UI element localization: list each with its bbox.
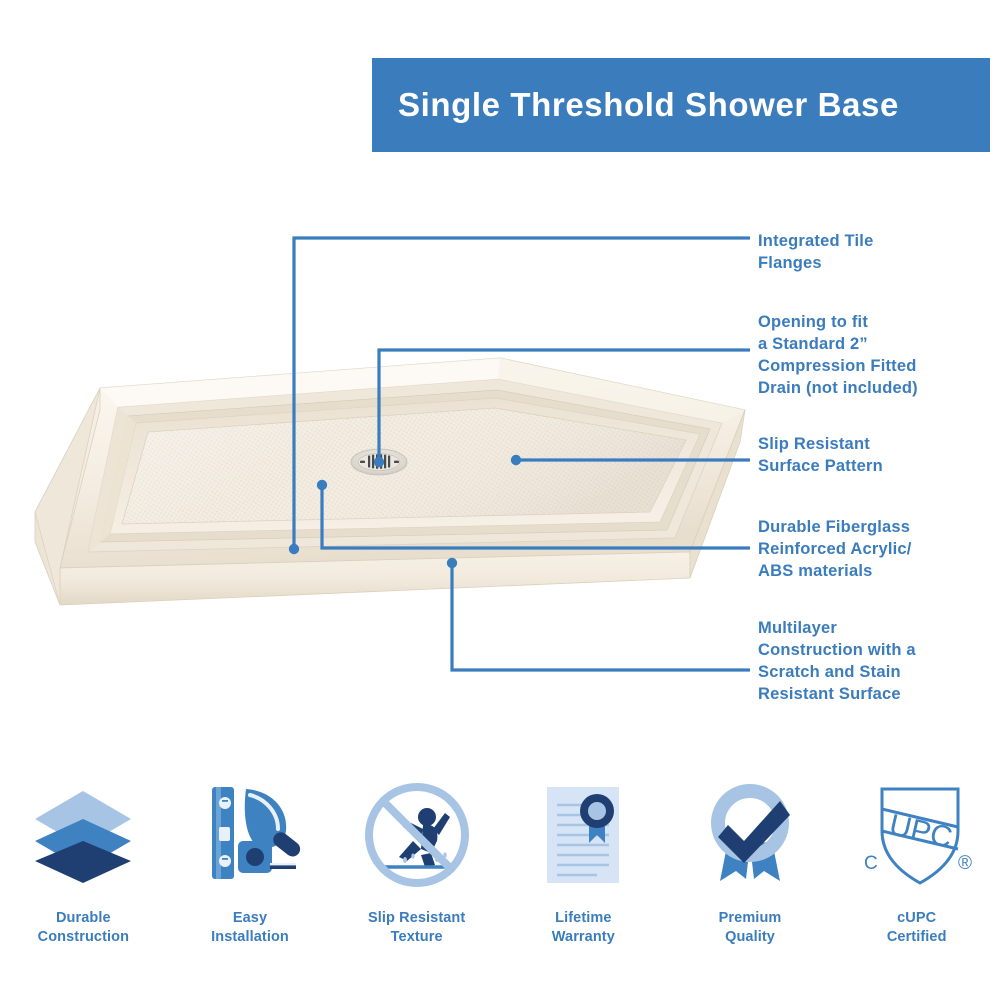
callout-line: Multilayer: [758, 618, 998, 640]
callout-line: Surface Pattern: [758, 456, 998, 478]
callout-line: Drain (not included): [758, 378, 998, 400]
shower-base-graphic: [35, 358, 745, 605]
callout-line: Scratch and Stain: [758, 662, 998, 684]
feature-lifetime-warranty: Lifetime Warranty: [500, 775, 667, 975]
infographic-page: Single Threshold Shower Base: [0, 0, 1000, 1000]
callout-line: Durable Fiberglass: [758, 517, 998, 539]
feature-slip-resistant-texture: Slip Resistant Texture: [333, 775, 500, 975]
callout-line: Construction with a: [758, 640, 998, 662]
feature-label-line: Quality: [719, 928, 782, 947]
feature-label-line: Construction: [38, 928, 129, 947]
leader-dot-drain: [374, 457, 384, 467]
ribbon-check-icon: [690, 775, 810, 895]
callout-line: Slip Resistant: [758, 434, 998, 456]
level-trowel-tape-icon: [190, 775, 310, 895]
callout-slip-resistant-surface: Slip Resistant Surface Pattern: [758, 434, 998, 478]
feature-easy-installation: Easy Installation: [167, 775, 334, 975]
callout-integrated-tile-flanges: Integrated Tile Flanges: [758, 231, 998, 275]
feature-label-line: Certified: [887, 928, 947, 947]
feature-label-line: cUPC: [887, 909, 947, 928]
callout-line: Resistant Surface: [758, 684, 998, 706]
certificate-icon: [523, 775, 643, 895]
layers-icon: [23, 775, 143, 895]
callout-line: Reinforced Acrylic/: [758, 539, 998, 561]
feature-label: Premium Quality: [719, 909, 782, 947]
callout-line: ABS materials: [758, 561, 998, 583]
feature-label-line: Easy: [211, 909, 289, 928]
callout-line: Flanges: [758, 253, 998, 275]
upc-left-mark: C: [864, 853, 878, 874]
title-banner: Single Threshold Shower Base: [372, 58, 990, 152]
feature-premium-quality: Premium Quality: [667, 775, 834, 975]
feature-strip: Durable Construction: [0, 775, 1000, 975]
leader-dot-materials: [317, 480, 327, 490]
leader-dot-flanges: [289, 544, 299, 554]
callout-durable-materials: Durable Fiberglass Reinforced Acrylic/ A…: [758, 517, 998, 583]
feature-label-line: Warranty: [552, 928, 615, 947]
page-title: Single Threshold Shower Base: [398, 87, 899, 123]
feature-label: cUPC Certified: [887, 909, 947, 947]
feature-label-line: Lifetime: [552, 909, 615, 928]
callout-line: Integrated Tile: [758, 231, 998, 253]
feature-label: Easy Installation: [211, 909, 289, 947]
feature-label: Durable Construction: [38, 909, 129, 947]
feature-label-line: Installation: [211, 928, 289, 947]
callout-line: Compression Fitted: [758, 356, 998, 378]
leader-dot-surface: [511, 455, 521, 465]
feature-label: Slip Resistant Texture: [368, 909, 465, 947]
feature-label-line: Slip Resistant: [368, 909, 465, 928]
leader-dot-construction: [447, 558, 457, 568]
feature-durable-construction: Durable Construction: [0, 775, 167, 975]
feature-label-line: Texture: [368, 928, 465, 947]
upc-shield-text: UPC: [886, 808, 955, 854]
feature-label: Lifetime Warranty: [552, 909, 615, 947]
no-slip-icon: [357, 775, 477, 895]
feature-cupc-certified: UPC C ® cUPC Certified: [833, 775, 1000, 975]
upc-right-mark: ®: [958, 853, 972, 874]
feature-label-line: Durable: [38, 909, 129, 928]
upc-shield-icon: UPC C ®: [857, 775, 977, 895]
callout-line: a Standard 2”: [758, 334, 998, 356]
feature-label-line: Premium: [719, 909, 782, 928]
callout-drain-opening: Opening to fit a Standard 2” Compression…: [758, 312, 998, 400]
callout-line: Opening to fit: [758, 312, 998, 334]
callout-multilayer-construction: Multilayer Construction with a Scratch a…: [758, 618, 998, 706]
